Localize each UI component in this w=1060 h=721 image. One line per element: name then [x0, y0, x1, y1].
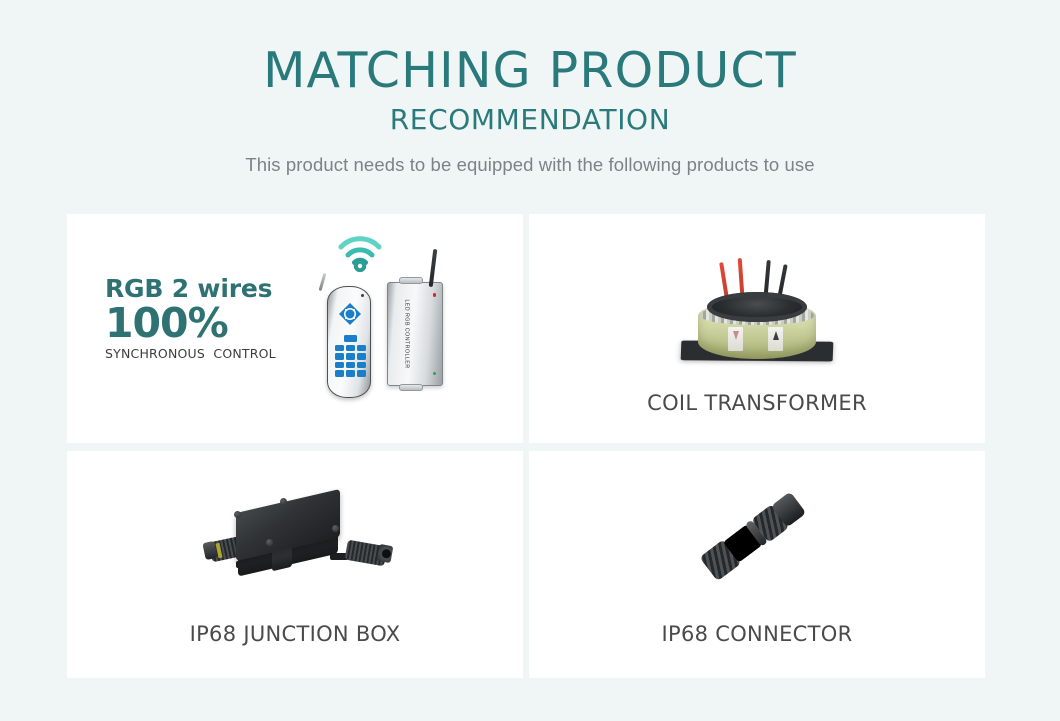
cable-gland-opening [377, 544, 394, 563]
rgb-caption: SYNCHRONOUS CONTROL [105, 346, 276, 361]
remote-keypad [335, 335, 366, 377]
remote-key [335, 353, 344, 360]
product-card-connector[interactable]: IP68 CONNECTOR [529, 451, 985, 678]
remote-key [357, 353, 366, 360]
transformer-core-top [707, 292, 807, 322]
remote-key [357, 362, 366, 369]
page-subtitle-heading: RECOMMENDATION [0, 102, 1060, 137]
remote-dpad [334, 298, 366, 330]
remote-key [335, 362, 344, 369]
rgb-device-illustration: LED RGB CONTROLLER [305, 230, 505, 420]
toroidal-transformer-image [652, 236, 862, 386]
page-description: This product needs to be equipped with t… [0, 154, 1060, 176]
dpad-down-icon [344, 319, 356, 331]
rgb-text-block: RGB 2 wires 100% SYNCHRONOUS CONTROL [105, 276, 276, 361]
product-card-grid: RGB 2 wires 100% SYNCHRONOUS CONTROL [67, 214, 985, 678]
junction-box-screw [234, 511, 241, 518]
transformer-coil-body [698, 301, 816, 359]
controller-power-led-icon [433, 293, 437, 297]
matching-product-page: MATCHING PRODUCT RECOMMENDATION This pro… [0, 0, 1060, 721]
card-label-coil-transformer: COIL TRANSFORMER [529, 391, 985, 415]
connector-body [712, 493, 804, 572]
rgb-percent: 100% [105, 303, 276, 345]
product-card-junction-box[interactable]: IP68 JUNCTION BOX [67, 451, 523, 678]
controller-label: LED RGB CONTROLLER [403, 299, 409, 368]
waterproof-connector-image [682, 491, 832, 591]
remote-key [346, 345, 355, 352]
remote-key [346, 353, 355, 360]
controller-mount-tab [399, 277, 423, 284]
rgb-headline: RGB 2 wires [105, 276, 276, 301]
led-rgb-controller: LED RGB CONTROLLER [387, 282, 443, 386]
wifi-icon [337, 234, 383, 277]
card-label-connector: IP68 CONNECTOR [529, 622, 985, 646]
junction-box-screw [266, 539, 273, 546]
controller-antenna [429, 249, 438, 287]
remote-key [346, 362, 355, 369]
remote-led-icon [361, 294, 364, 297]
controller-mount-tab [399, 384, 423, 391]
transformer-label [728, 327, 743, 351]
remote-key [335, 370, 344, 377]
dpad-ok-button [344, 308, 356, 320]
remote-antenna [319, 273, 327, 291]
product-card-coil-transformer[interactable]: COIL TRANSFORMER [529, 214, 985, 443]
remote-key [335, 345, 344, 352]
remote-key [357, 370, 366, 377]
product-card-rgb-controller[interactable]: RGB 2 wires 100% SYNCHRONOUS CONTROL [67, 214, 523, 443]
remote-key [357, 345, 366, 352]
remote-control [327, 286, 371, 398]
page-header: MATCHING PRODUCT RECOMMENDATION This pro… [0, 0, 1060, 176]
arrow-up-icon [773, 331, 779, 340]
arrow-down-icon [733, 331, 739, 340]
controller-status-led-icon [433, 372, 437, 376]
junction-box-screw [332, 525, 339, 532]
junction-box-screw [280, 498, 287, 505]
card-label-junction-box: IP68 JUNCTION BOX [67, 622, 523, 646]
transformer-label [768, 327, 783, 351]
remote-key [344, 335, 357, 342]
junction-box-image [220, 487, 370, 587]
dpad-right-icon [355, 308, 367, 320]
remote-key [346, 370, 355, 377]
page-title: MATCHING PRODUCT [0, 46, 1060, 97]
